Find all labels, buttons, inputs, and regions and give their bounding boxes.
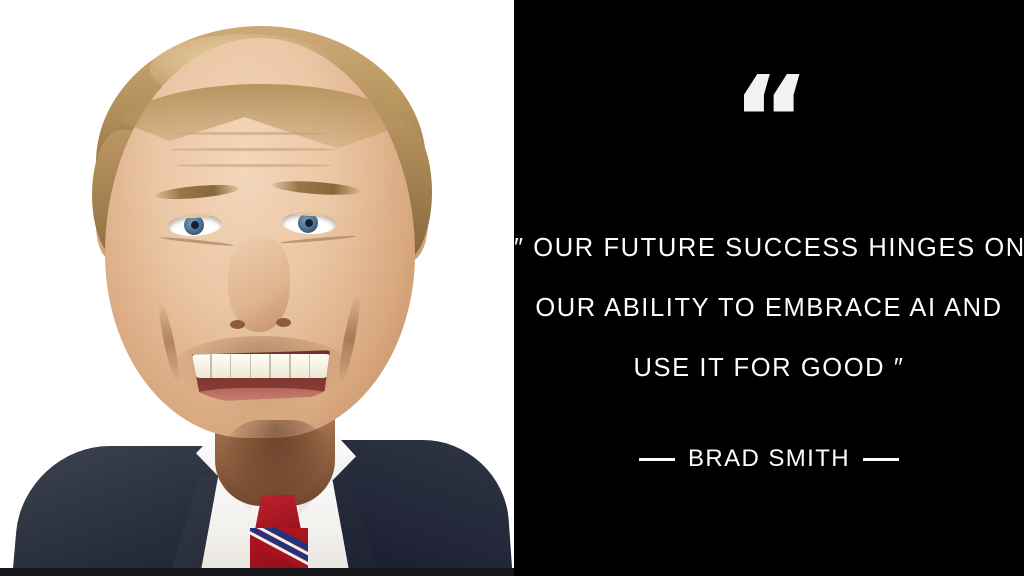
quote-line: OUR ABILITY TO EMBRACE AI AND — [514, 278, 1024, 338]
tooth-gap — [250, 354, 252, 378]
attribution-rule-right — [863, 458, 899, 461]
attribution-rule-left — [639, 458, 675, 461]
portrait-pane — [0, 0, 514, 576]
tooth-gap — [309, 354, 311, 378]
open-quote-icon: “ — [514, 62, 1024, 182]
quote-line: USE IT FOR GOOD ″ — [514, 338, 1024, 398]
quote-panel: “ ″ OUR FUTURE SUCCESS HINGES ON OUR ABI… — [514, 0, 1024, 576]
forehead-line — [176, 164, 332, 167]
quote-line: ″ OUR FUTURE SUCCESS HINGES ON — [514, 218, 1024, 278]
quote-card: “ ″ OUR FUTURE SUCCESS HINGES ON OUR ABI… — [0, 0, 1024, 576]
tooth-gap — [230, 354, 232, 378]
tooth-gap — [210, 354, 212, 378]
attribution: BRAD SMITH — [514, 445, 1024, 473]
nostril-right — [276, 318, 291, 327]
tooth-gap — [289, 354, 291, 378]
bottom-edge-strip — [0, 568, 514, 576]
quote-text: ″ OUR FUTURE SUCCESS HINGES ON OUR ABILI… — [514, 218, 1024, 398]
pupil-right — [305, 219, 313, 227]
tooth-gap — [269, 354, 271, 378]
attribution-name: BRAD SMITH — [688, 445, 850, 473]
portrait-photo — [0, 0, 514, 576]
forehead-line — [178, 132, 328, 135]
forehead-line — [170, 148, 336, 151]
pupil-left — [191, 221, 199, 229]
teeth — [191, 354, 332, 378]
nostril-left — [230, 320, 245, 329]
mouth — [186, 348, 336, 404]
